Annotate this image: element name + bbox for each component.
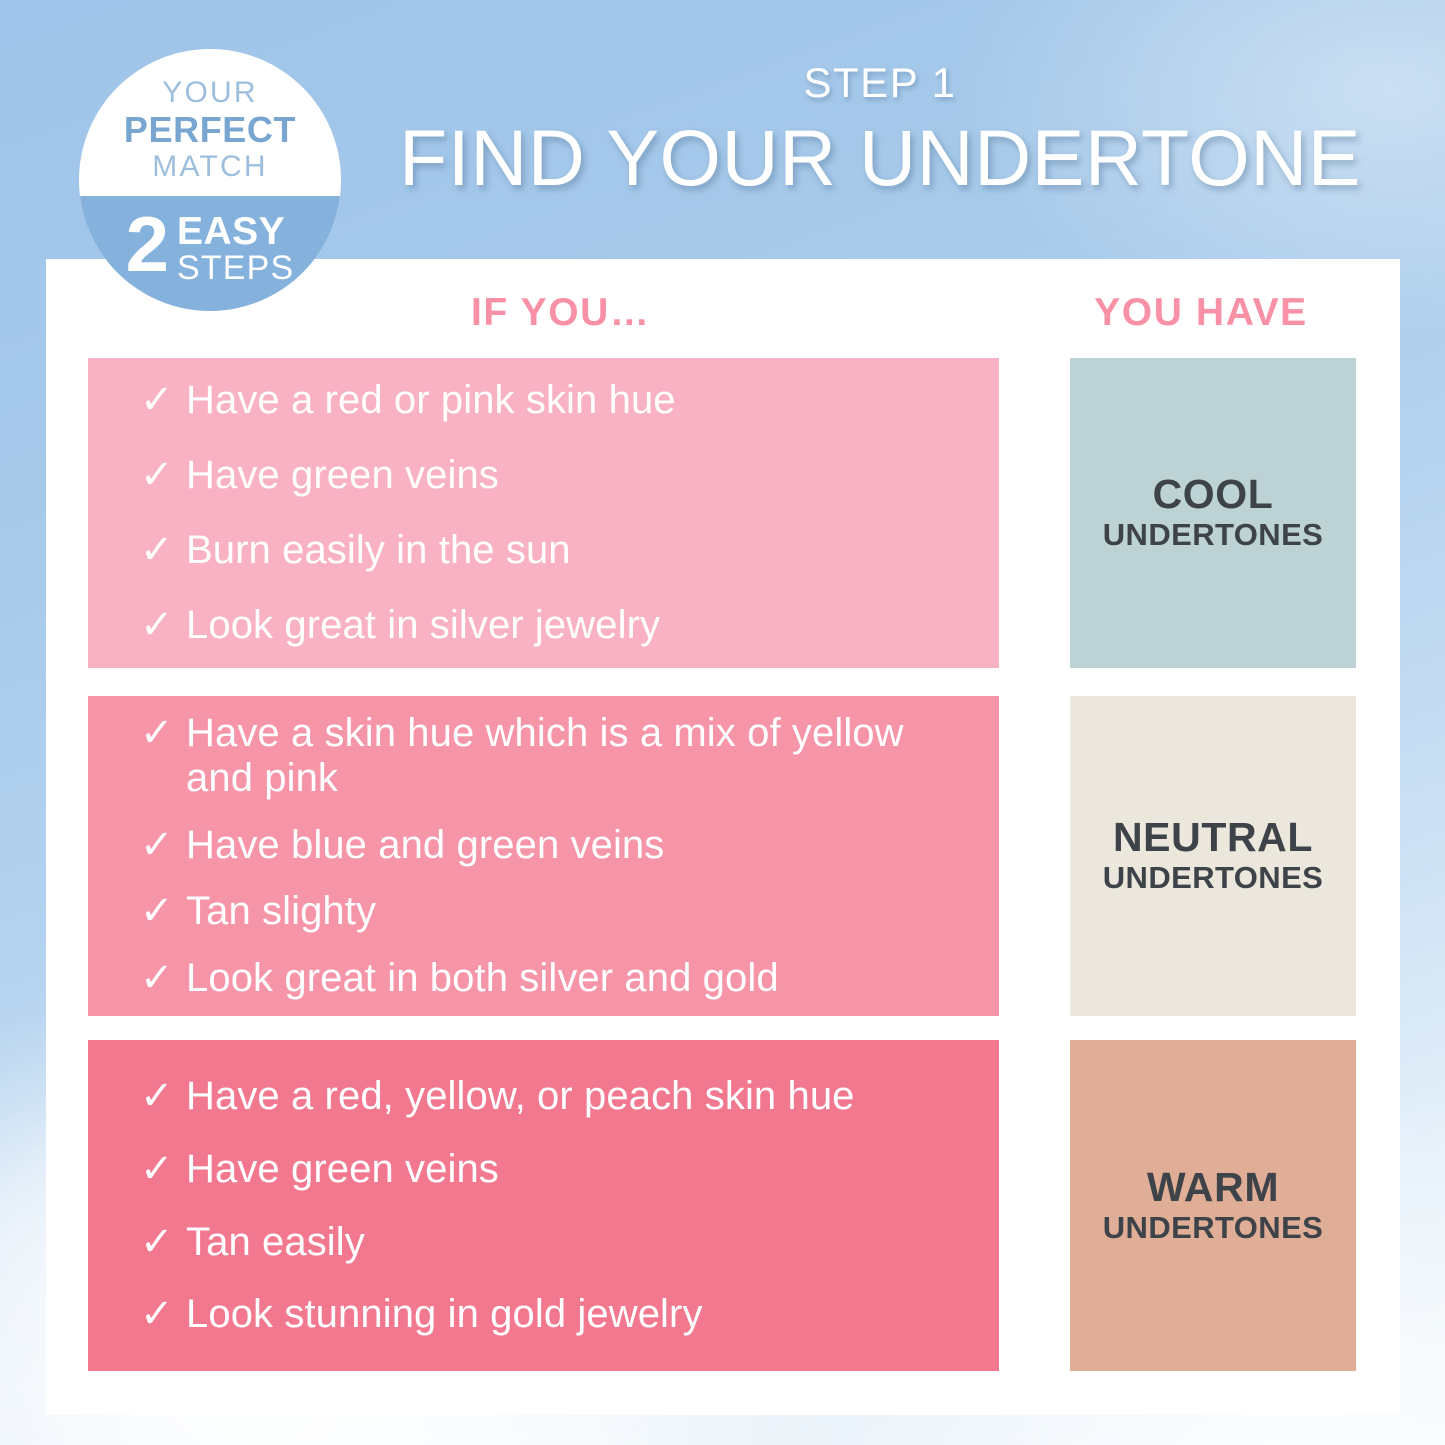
your-perfect-match-badge: YOUR PERFECT MATCH 2 EASY STEPS [79, 49, 341, 311]
poster-header: STEP 1 FIND YOUR UNDERTONE [380, 62, 1380, 199]
badge-line-easy: EASY [177, 213, 294, 251]
page-title: FIND YOUR UNDERTONE [380, 118, 1380, 199]
criteria-text: Look stunning in gold jewelry [186, 1292, 703, 1337]
swatch-subtitle: UNDERTONES [1103, 518, 1323, 552]
list-item: ✓ Have a skin hue which is a mix of yell… [140, 711, 963, 801]
criteria-text: Have a skin hue which is a mix of yellow… [186, 711, 963, 801]
criteria-list-neutral: ✓ Have a skin hue which is a mix of yell… [88, 696, 999, 1016]
criteria-list-warm: ✓ Have a red, yellow, or peach skin hue … [88, 1040, 999, 1371]
criteria-text: Have green veins [186, 1147, 499, 1192]
list-item: ✓ Tan easily [140, 1220, 963, 1265]
swatch-title: COOL [1153, 473, 1274, 516]
criteria-text: Have a red or pink skin hue [186, 378, 676, 423]
undertone-row-cool: ✓ Have a red or pink skin hue ✓ Have gre… [46, 358, 1400, 668]
poster-canvas: STEP 1 FIND YOUR UNDERTONE IF YOU… YOU H… [0, 0, 1445, 1445]
list-item: ✓ Have green veins [140, 453, 963, 498]
list-item: ✓ Look stunning in gold jewelry [140, 1292, 963, 1337]
undertone-swatch-warm: WARM UNDERTONES [1070, 1040, 1356, 1371]
list-item: ✓ Have a red or pink skin hue [140, 378, 963, 423]
list-item: ✓ Have green veins [140, 1147, 963, 1192]
check-icon: ✓ [140, 956, 186, 1001]
list-item: ✓ Have blue and green veins [140, 823, 963, 868]
step-label: STEP 1 [380, 62, 1380, 104]
list-item: ✓ Tan slighty [140, 889, 963, 934]
badge-line-steps: STEPS [177, 251, 294, 286]
swatch-subtitle: UNDERTONES [1103, 861, 1323, 895]
column-header-you-have: YOU HAVE [1056, 291, 1346, 335]
badge-step-count: 2 [126, 211, 168, 278]
check-icon: ✓ [140, 378, 186, 423]
badge-line-perfect: PERFECT [79, 111, 341, 149]
check-icon: ✓ [140, 711, 186, 756]
criteria-list-cool: ✓ Have a red or pink skin hue ✓ Have gre… [88, 358, 999, 668]
swatch-title: WARM [1147, 1166, 1279, 1209]
list-item: ✓ Have a red, yellow, or peach skin hue [140, 1074, 963, 1119]
check-icon: ✓ [140, 603, 186, 648]
badge-bottom-text: 2 EASY STEPS [79, 211, 341, 286]
criteria-text: Have a red, yellow, or peach skin hue [186, 1074, 855, 1119]
undertone-swatch-neutral: NEUTRAL UNDERTONES [1070, 696, 1356, 1016]
badge-line-your: YOUR [79, 77, 341, 109]
check-icon: ✓ [140, 1074, 186, 1119]
column-header-if-you: IF YOU… [471, 291, 651, 335]
list-item: ✓ Look great in silver jewelry [140, 603, 963, 648]
check-icon: ✓ [140, 528, 186, 573]
undertone-row-neutral: ✓ Have a skin hue which is a mix of yell… [46, 696, 1400, 1016]
check-icon: ✓ [140, 823, 186, 868]
swatch-title: NEUTRAL [1113, 816, 1313, 859]
check-icon: ✓ [140, 1220, 186, 1265]
content-card: IF YOU… YOU HAVE ✓ Have a red or pink sk… [46, 259, 1400, 1415]
swatch-subtitle: UNDERTONES [1103, 1211, 1323, 1245]
badge-line-match: MATCH [79, 151, 341, 183]
criteria-text: Have blue and green veins [186, 823, 664, 868]
criteria-text: Tan easily [186, 1220, 365, 1265]
check-icon: ✓ [140, 1147, 186, 1192]
undertone-swatch-cool: COOL UNDERTONES [1070, 358, 1356, 668]
check-icon: ✓ [140, 453, 186, 498]
list-item: ✓ Burn easily in the sun [140, 528, 963, 573]
criteria-text: Look great in silver jewelry [186, 603, 660, 648]
check-icon: ✓ [140, 1292, 186, 1337]
criteria-text: Tan slighty [186, 889, 376, 934]
criteria-text: Look great in both silver and gold [186, 956, 779, 1001]
list-item: ✓ Look great in both silver and gold [140, 956, 963, 1001]
undertone-row-warm: ✓ Have a red, yellow, or peach skin hue … [46, 1040, 1400, 1371]
check-icon: ✓ [140, 889, 186, 934]
badge-top-text: YOUR PERFECT MATCH [79, 77, 341, 183]
criteria-text: Have green veins [186, 453, 499, 498]
badge-steps-stack: EASY STEPS [177, 213, 294, 286]
criteria-text: Burn easily in the sun [186, 528, 571, 573]
